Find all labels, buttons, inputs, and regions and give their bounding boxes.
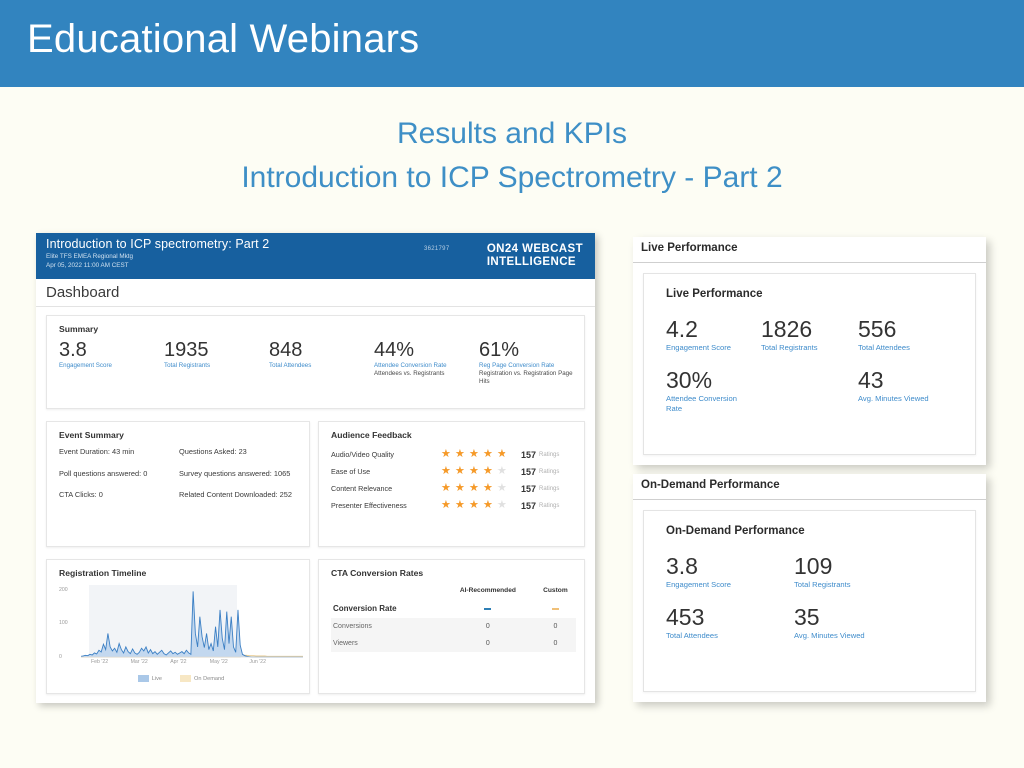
rating-count: 157: [521, 501, 536, 511]
live-performance-body: Live Performance 4.2 Engagement Score 18…: [633, 263, 986, 465]
dashboard-banner: Introduction to ICP spectrometry: Part 2…: [36, 233, 595, 279]
dash-marker-icon: [552, 608, 559, 611]
summary-metric: 44% Attendee Conversion Rate Attendees v…: [374, 338, 479, 386]
ondemand-performance-metrics: 3.8 Engagement Score 109 Total Registran…: [666, 553, 975, 641]
live-performance-metrics: 4.2 Engagement Score 1826 Total Registra…: [666, 316, 975, 414]
live-metric-total-attendees: 556 Total Attendees: [858, 316, 910, 353]
live-performance-card: Live Performance 4.2 Engagement Score 18…: [643, 273, 976, 455]
slide-header-bar: Educational Webinars: [0, 0, 1024, 87]
cta-row-label: Conversion Rate: [331, 599, 441, 618]
timeline-plot: [81, 583, 303, 659]
feedback-category-label: Presenter Effectiveness: [331, 501, 441, 510]
star-fill: ★: [469, 449, 482, 460]
ondemand-performance-group-title: On-Demand Performance: [641, 479, 786, 491]
slide-subtitle-block: Results and KPIs Introduction to ICP Spe…: [0, 112, 1024, 200]
summary-metric: 1935 Total Registrants: [164, 338, 269, 386]
star-fill: ★: [497, 466, 498, 477]
metric-value: 30%: [666, 367, 761, 394]
metric-label: Engagement Score: [59, 362, 164, 370]
summary-panel: Summary 3.8 Engagement Score 1935 Total …: [46, 315, 585, 409]
ondemand-metric-total-attendees: 453 Total Attendees: [666, 604, 794, 641]
x-axis-tick-label: Jun '22: [249, 659, 266, 665]
live-performance-group: Live Performance Live Performance 4.2 En…: [633, 237, 986, 465]
cta-col-2: Custom: [535, 587, 576, 599]
star-fill: ★: [483, 449, 496, 460]
cta-cell-custom: 0: [535, 618, 576, 635]
star-fill: ★: [455, 466, 468, 477]
cta-col-1: AI-Recommended: [441, 587, 535, 599]
metric-value: 4.2: [666, 316, 761, 343]
metric-label: Total Registrants: [164, 362, 269, 370]
star-rating: ★★★★★★★★★★: [441, 466, 519, 477]
cta-cell-ai: 0: [441, 635, 535, 652]
metric-value: 848: [269, 338, 374, 362]
star-fill: ★: [455, 483, 468, 494]
star-fill: ★: [469, 466, 482, 477]
legend-item: On Demand: [180, 675, 224, 682]
slide-header-title: Educational Webinars: [27, 17, 419, 62]
y-axis-tick-label: 200: [59, 587, 68, 593]
table-row: Viewers00: [331, 635, 576, 652]
live-metric-avg-minutes-viewed: 43 Avg. Minutes Viewed: [858, 367, 929, 414]
metric-label: Total Attendees: [858, 343, 910, 353]
cta-conversion-title: CTA Conversion Rates: [331, 568, 584, 578]
cta-conversion-table: AI-Recommended Custom Conversion RateCon…: [331, 587, 576, 652]
star-fill: ★: [497, 483, 498, 494]
cta-cell-ai: [441, 599, 535, 618]
x-axis-tick-label: Feb '22: [91, 659, 108, 665]
metric-value: 556: [858, 316, 910, 343]
feedback-category-label: Ease of Use: [331, 467, 441, 476]
registration-timeline-title: Registration Timeline: [59, 568, 309, 578]
metric-value: 61%: [479, 338, 584, 362]
metric-label: Total Registrants: [761, 343, 858, 353]
ondemand-performance-group: On-Demand Performance On-Demand Performa…: [633, 474, 986, 702]
y-axis-tick-label: 0: [59, 654, 62, 660]
on24-dashboard-card: Introduction to ICP spectrometry: Part 2…: [36, 233, 595, 703]
dash-marker-icon: [484, 608, 491, 611]
live-metric-attendee-conversion-rate: 30% Attendee Conversion Rate: [666, 367, 761, 414]
metric-value: 3.8: [59, 338, 164, 362]
star-fill: ★: [483, 483, 496, 494]
table-row: Conversion Rate: [331, 599, 576, 618]
audience-feedback-row: Ease of Use★★★★★★★★★★157Ratings: [331, 463, 584, 480]
rating-count: 157: [521, 467, 536, 477]
metric-row: 4.2 Engagement Score 1826 Total Registra…: [666, 316, 975, 353]
star-rating: ★★★★★★★★★★: [441, 500, 519, 511]
cta-row-label: Viewers: [331, 635, 441, 652]
metric-label: Reg Page Conversion Rate: [479, 362, 584, 370]
metric-label: Total Registrants: [794, 580, 851, 590]
star-icon: ★★: [483, 466, 496, 477]
registration-timeline-panel: Registration Timeline 0100200Feb '22Mar …: [46, 559, 310, 694]
star-icon: ★★: [483, 449, 496, 460]
cta-conversion-panel: CTA Conversion Rates AI-Recommended Cust…: [318, 559, 585, 694]
rating-unit-label: Ratings: [539, 452, 559, 458]
on24-logo: ON24 WEBCAST INTELLIGENCE: [487, 243, 583, 269]
metric-value: 453: [666, 604, 794, 631]
star-fill: ★: [441, 449, 454, 460]
metric-value: 43: [858, 367, 929, 394]
star-fill: ★: [441, 466, 454, 477]
metric-row: 453 Total Attendees 35 Avg. Minutes View…: [666, 604, 975, 641]
rating-unit-label: Ratings: [539, 469, 559, 475]
star-icon: ★★: [497, 500, 510, 511]
audience-feedback-row: Presenter Effectiveness★★★★★★★★★★157Rati…: [331, 497, 584, 514]
legend-swatch: [180, 675, 191, 682]
summary-panel-title: Summary: [59, 324, 584, 334]
metric-label: Engagement Score: [666, 343, 761, 353]
star-icon: ★★: [483, 483, 496, 494]
rating-unit-label: Ratings: [539, 503, 559, 509]
event-summary-panel: Event Summary Event Duration: 43 min Que…: [46, 421, 310, 547]
star-icon: ★★: [455, 466, 468, 477]
summary-metric: 848 Total Attendees: [269, 338, 374, 386]
star-icon: ★★: [455, 483, 468, 494]
metric-label: Avg. Minutes Viewed: [794, 631, 865, 641]
on24-logo-line-1: ON24 WEBCAST: [487, 243, 583, 256]
feedback-category-label: Content Relevance: [331, 484, 441, 493]
metric-sub: Attendees vs. Registrants: [374, 370, 479, 378]
star-icon: ★★: [455, 449, 468, 460]
on24-logo-line-2: INTELLIGENCE: [487, 256, 583, 269]
star-icon: ★★: [469, 483, 482, 494]
table-header-row: AI-Recommended Custom: [331, 587, 576, 599]
event-summary-item: Related Content Downloaded: 252: [179, 490, 309, 500]
metric-value: 109: [794, 553, 851, 580]
legend-label: On Demand: [194, 676, 224, 682]
star-fill: ★: [455, 500, 468, 511]
event-summary-item: Survey questions answered: 1065: [179, 469, 309, 479]
star-icon: ★★: [497, 466, 510, 477]
webcast-datetime: Apr 05, 2022 11:00 AM CEST: [46, 262, 129, 269]
live-metric-total-registrants: 1826 Total Registrants: [761, 316, 858, 353]
metric-sub: Registration vs. Registration Page Hits: [479, 370, 584, 386]
cta-col-0: [331, 587, 441, 599]
event-summary-item: Event Duration: 43 min: [59, 447, 179, 457]
metric-label: Engagement Score: [666, 580, 794, 590]
metric-spacer: [761, 367, 858, 414]
dashboard-nav-title: Dashboard: [36, 279, 595, 307]
star-rating: ★★★★★★★★★★: [441, 449, 519, 460]
ondemand-performance-group-header: On-Demand Performance: [633, 474, 986, 500]
summary-metric: 3.8 Engagement Score: [59, 338, 164, 386]
metric-label: Attendee Conversion Rate: [374, 362, 479, 370]
y-axis-tick-label: 100: [59, 620, 68, 626]
event-summary-title: Event Summary: [59, 430, 309, 440]
audience-feedback-panel: Audience Feedback Audio/Video Quality★★★…: [318, 421, 585, 547]
event-summary-item: CTA Clicks: 0: [59, 490, 179, 500]
star-icon: ★★: [455, 500, 468, 511]
registration-timeline-legend: LiveOn Demand: [53, 675, 309, 682]
slide-subtitle-line-1: Results and KPIs: [0, 112, 1024, 156]
x-axis-tick-label: Apr '22: [170, 659, 186, 665]
x-axis-tick-label: Mar '22: [131, 659, 148, 665]
ondemand-performance-body: On-Demand Performance 3.8 Engagement Sco…: [633, 500, 986, 702]
feedback-category-label: Audio/Video Quality: [331, 450, 441, 459]
ondemand-performance-card-title: On-Demand Performance: [666, 525, 975, 537]
slide-subtitle-line-2: Introduction to ICP Spectrometry - Part …: [0, 156, 1024, 200]
star-icon: ★★: [441, 449, 454, 460]
star-icon: ★★: [441, 483, 454, 494]
ondemand-metric-total-registrants: 109 Total Registrants: [794, 553, 851, 590]
table-row: Conversions00: [331, 618, 576, 635]
star-icon: ★★: [497, 449, 510, 460]
ondemand-performance-card: On-Demand Performance 3.8 Engagement Sco…: [643, 510, 976, 692]
star-fill: ★: [469, 500, 482, 511]
summary-metrics-row: 3.8 Engagement Score 1935 Total Registra…: [59, 338, 584, 386]
rating-unit-label: Ratings: [539, 486, 559, 492]
star-fill: ★: [469, 483, 482, 494]
metric-label: Total Attendees: [666, 631, 794, 641]
star-fill: ★: [441, 483, 454, 494]
star-fill: ★: [483, 466, 496, 477]
metric-value: 1826: [761, 316, 858, 343]
star-icon: ★★: [497, 483, 510, 494]
star-icon: ★★: [469, 500, 482, 511]
metric-row: 30% Attendee Conversion Rate 43 Avg. Min…: [666, 367, 975, 414]
star-fill: ★: [497, 500, 498, 511]
event-summary-item: Poll questions answered: 0: [59, 469, 179, 479]
cta-cell-custom: 0: [535, 635, 576, 652]
live-performance-group-header: Live Performance: [633, 237, 986, 263]
legend-label: Live: [152, 676, 162, 682]
metric-label: Avg. Minutes Viewed: [858, 394, 929, 404]
webcast-title: Introduction to ICP spectrometry: Part 2: [46, 237, 269, 251]
metric-value: 35: [794, 604, 865, 631]
summary-metric: 61% Reg Page Conversion Rate Registratio…: [479, 338, 584, 386]
metric-row: 3.8 Engagement Score 109 Total Registran…: [666, 553, 975, 590]
rating-count: 157: [521, 484, 536, 494]
legend-item: Live: [138, 675, 162, 682]
star-icon: ★★: [483, 500, 496, 511]
star-fill: ★: [497, 449, 505, 460]
cta-cell-custom: [535, 599, 576, 618]
star-fill: ★: [455, 449, 468, 460]
cta-cell-ai: 0: [441, 618, 535, 635]
registration-timeline-chart: 0100200Feb '22Mar '22Apr '22May '22Jun '…: [59, 583, 303, 671]
star-icon: ★★: [441, 466, 454, 477]
rating-count: 157: [521, 450, 536, 460]
audience-feedback-rows: Audio/Video Quality★★★★★★★★★★157RatingsE…: [331, 446, 584, 514]
star-icon: ★★: [441, 500, 454, 511]
star-fill: ★: [483, 500, 496, 511]
metric-value: 44%: [374, 338, 479, 362]
audience-feedback-title: Audience Feedback: [331, 430, 584, 440]
audience-feedback-row: Audio/Video Quality★★★★★★★★★★157Ratings: [331, 446, 584, 463]
legend-swatch: [138, 675, 149, 682]
event-summary-grid: Event Duration: 43 min Questions Asked: …: [59, 447, 309, 500]
audience-feedback-row: Content Relevance★★★★★★★★★★157Ratings: [331, 480, 584, 497]
webcast-id: 3621797: [424, 246, 449, 252]
metric-label: Total Attendees: [269, 362, 374, 370]
webcast-org: Elite TFS EMEA Regional Mktg: [46, 253, 133, 260]
live-performance-group-title: Live Performance: [641, 242, 744, 254]
ondemand-metric-avg-minutes-viewed: 35 Avg. Minutes Viewed: [794, 604, 865, 641]
ondemand-metric-engagement-score: 3.8 Engagement Score: [666, 553, 794, 590]
cta-row-label: Conversions: [331, 618, 441, 635]
star-icon: ★★: [469, 449, 482, 460]
star-icon: ★★: [469, 466, 482, 477]
metric-value: 1935: [164, 338, 269, 362]
live-performance-card-title: Live Performance: [666, 288, 975, 300]
star-rating: ★★★★★★★★★★: [441, 483, 519, 494]
star-fill: ★: [441, 500, 454, 511]
live-metric-engagement-score: 4.2 Engagement Score: [666, 316, 761, 353]
metric-value: 3.8: [666, 553, 794, 580]
metric-label: Attendee Conversion Rate: [666, 394, 738, 414]
event-summary-item: Questions Asked: 23: [179, 447, 309, 457]
x-axis-tick-label: May '22: [210, 659, 228, 665]
